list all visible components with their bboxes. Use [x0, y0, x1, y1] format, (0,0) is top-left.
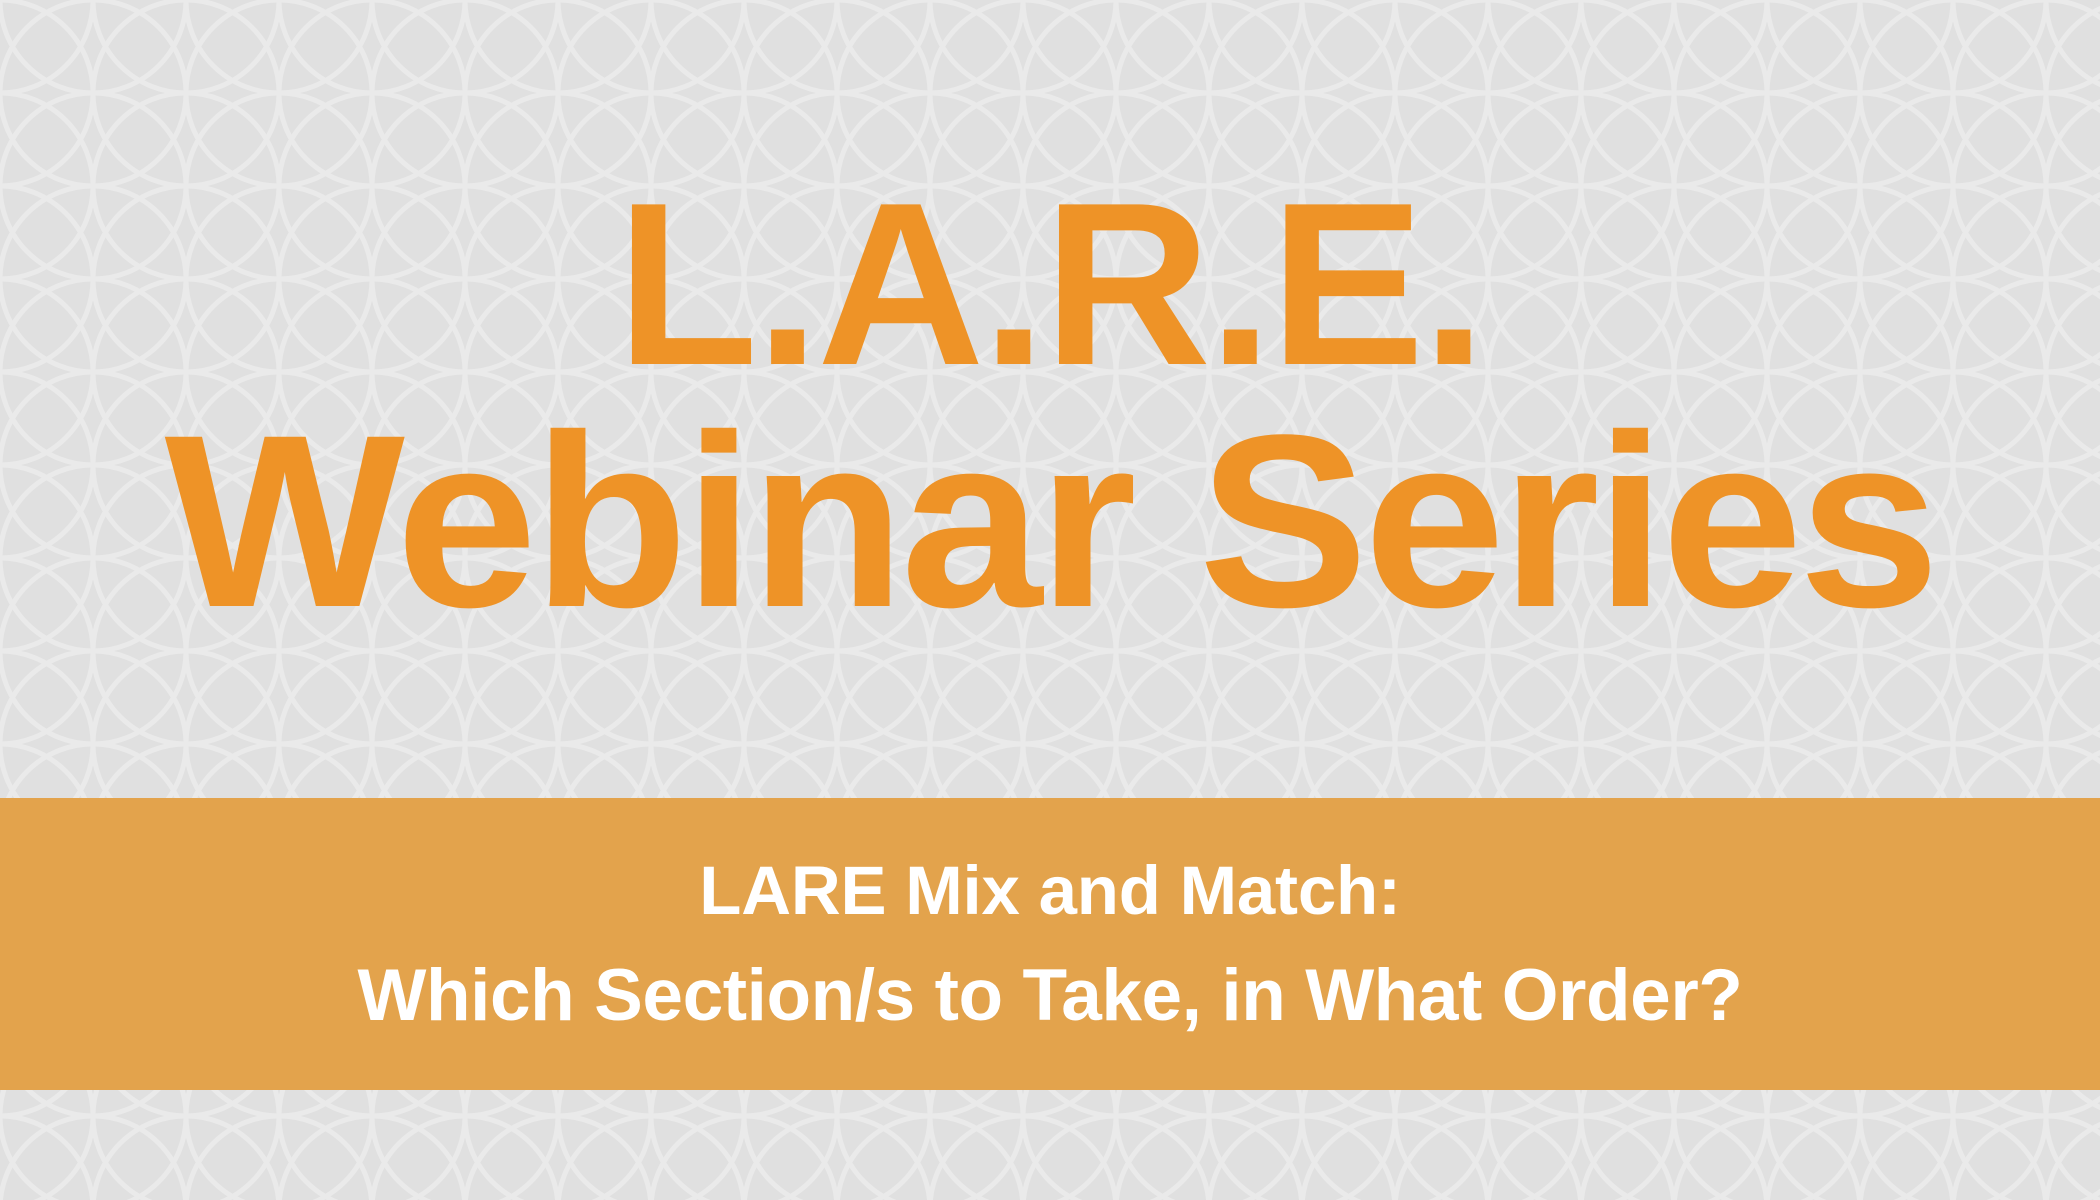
title-line-lare: L.A.R.E. [0, 172, 2100, 397]
banner-line-topic: LARE Mix and Match: [0, 856, 2100, 925]
title-block: L.A.R.E. Webinar Series [0, 0, 2100, 798]
webinar-title-slide: L.A.R.E. Webinar Series LARE Mix and Mat… [0, 0, 2100, 1200]
banner-line-question: Which Section/s to Take, in What Order? [0, 959, 2100, 1032]
title-line-webinar-series: Webinar Series [0, 403, 2100, 642]
subtitle-banner: LARE Mix and Match: Which Section/s to T… [0, 798, 2100, 1090]
